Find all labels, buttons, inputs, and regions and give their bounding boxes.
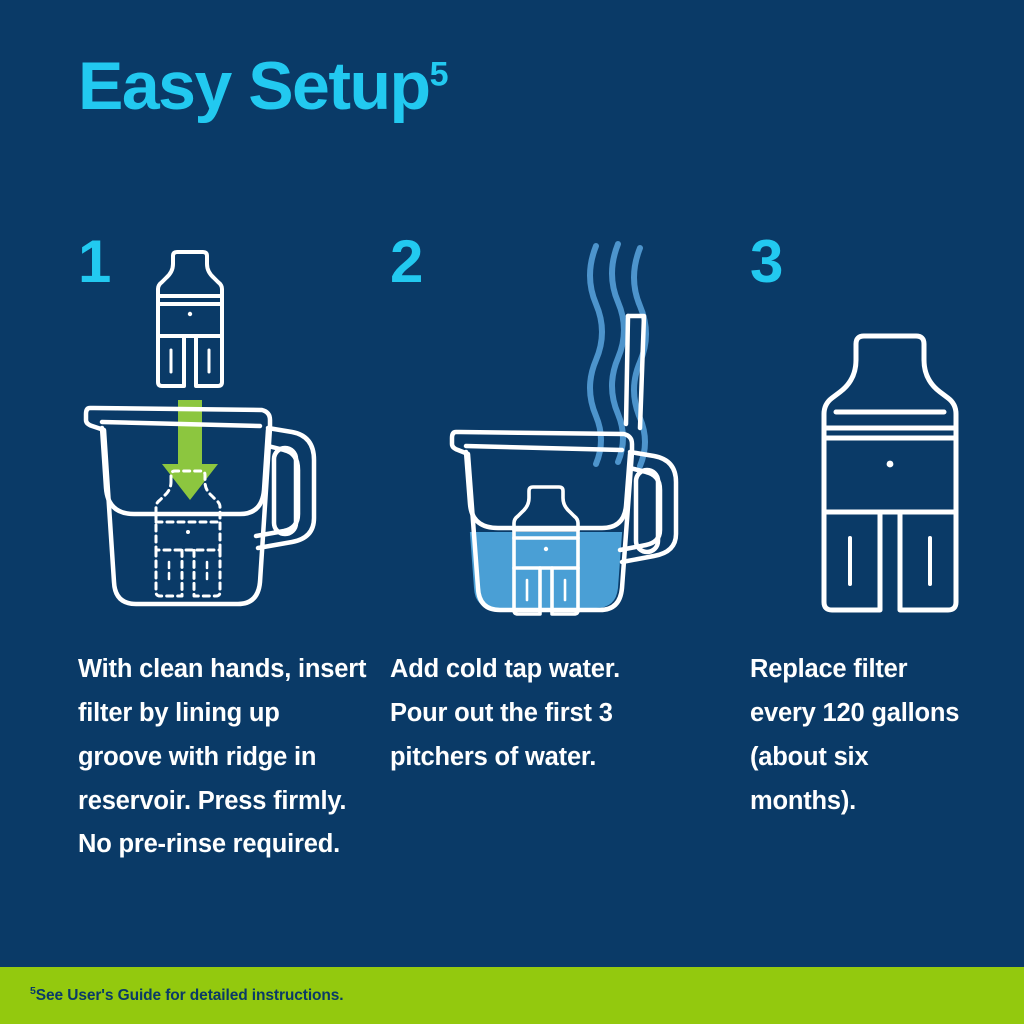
step-2-illustration (390, 232, 690, 632)
faucet-spout-icon (626, 316, 644, 428)
easy-setup-infographic: Easy Setup5 1 (0, 0, 1024, 1024)
page-title-superscript: 5 (430, 55, 447, 93)
filter-cartridge-icon (158, 252, 222, 386)
page-title-text: Easy Setup (78, 48, 430, 124)
water-stream-icon (590, 244, 646, 466)
installed-filter-icon (514, 487, 578, 614)
step-3-caption: Replace filter every 120 gallons (about … (750, 648, 975, 823)
step-3-number: 3 (750, 232, 783, 292)
step-3-illustration (750, 232, 1024, 632)
step-1-illustration (78, 232, 378, 632)
footnote-bar: 5See User's Guide for detailed instructi… (0, 967, 1024, 1024)
footnote-note: See User's Guide for detailed instructio… (36, 987, 344, 1004)
filter-dot (544, 547, 548, 551)
step-1-caption: With clean hands, insert filter by linin… (78, 648, 368, 867)
step-1-number: 1 (78, 232, 111, 292)
pitcher-outline (86, 408, 314, 604)
replacement-filter-icon (824, 336, 956, 610)
page-title: Easy Setup5 (78, 52, 447, 120)
pitcher-outline (452, 432, 676, 610)
footnote-text: 5See User's Guide for detailed instructi… (30, 987, 344, 1005)
step-2-number: 2 (390, 232, 423, 292)
water-fill (450, 532, 650, 632)
step-2-caption: Add cold tap water. Pour out the first 3… (390, 648, 675, 780)
filter-ghost-position (156, 471, 220, 596)
filter-dot (188, 312, 192, 316)
filter-dot (887, 461, 894, 468)
filter-ghost-dot (186, 530, 190, 534)
insert-arrow-icon (162, 400, 218, 500)
